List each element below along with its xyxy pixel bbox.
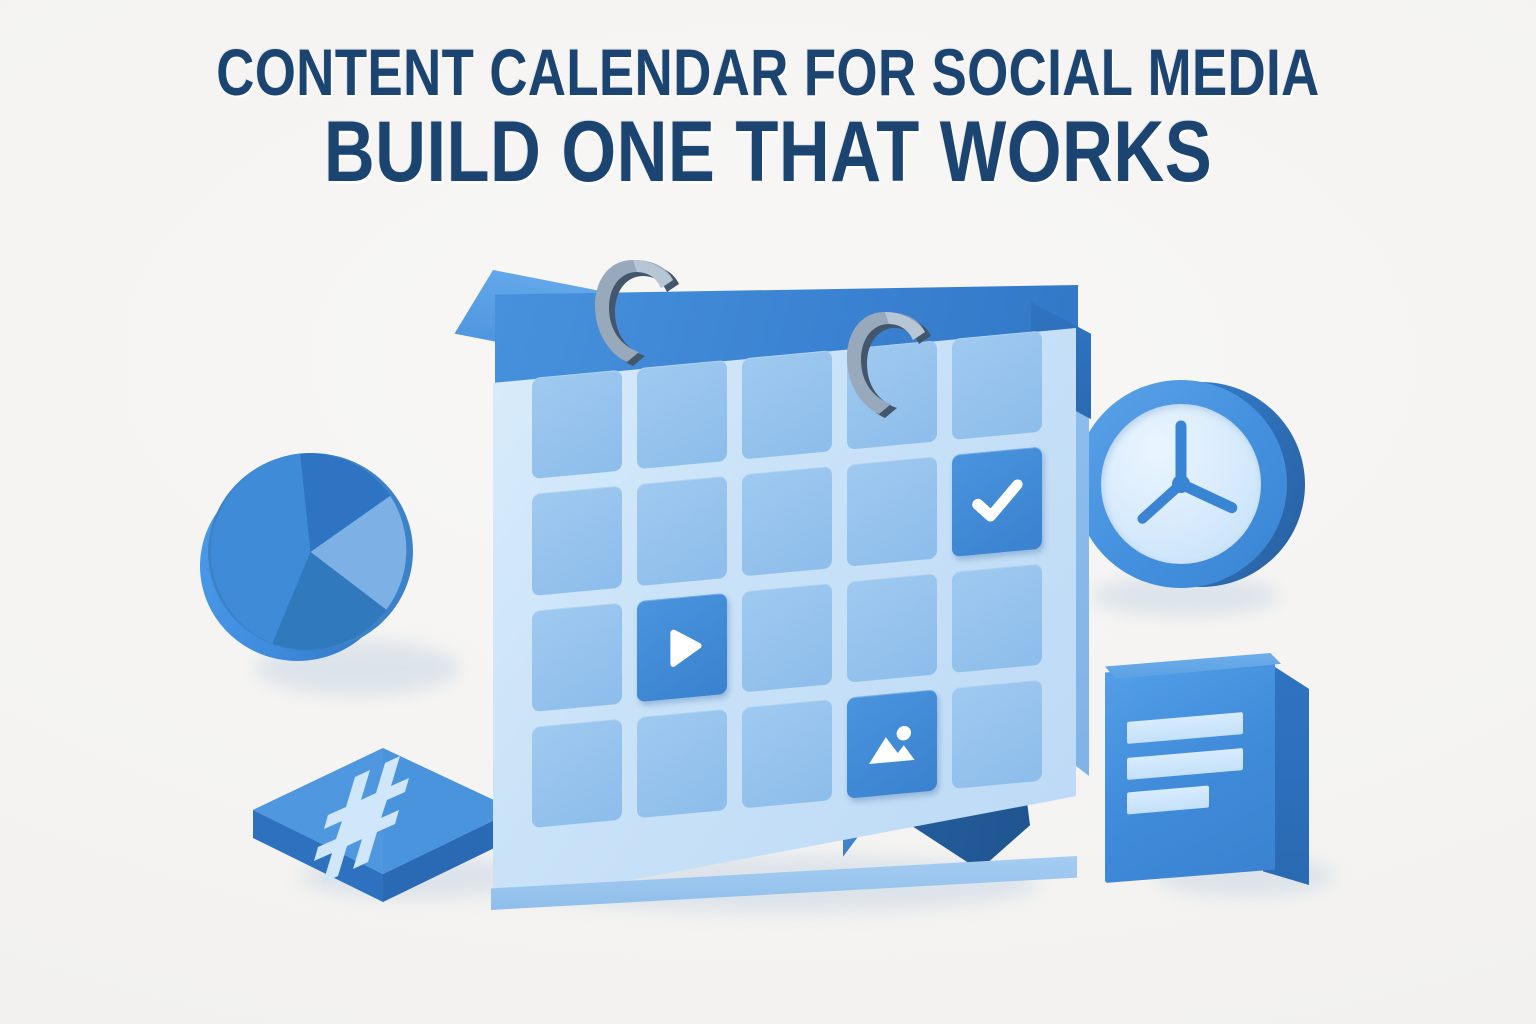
- calendar-cell: [532, 602, 622, 712]
- calendar-cell: [952, 331, 1042, 441]
- calendar-cell: [532, 718, 622, 828]
- calendar-ring-2: [845, 310, 937, 428]
- calendar-cell: [532, 486, 622, 596]
- calendar-cell: [637, 360, 727, 470]
- image-icon: [847, 689, 937, 799]
- calendar-cell: [847, 573, 937, 683]
- desk-calendar: [455, 250, 1095, 940]
- clock: [1063, 372, 1308, 612]
- headline-block: CONTENT CALENDAR FOR SOCIAL MEDIA BUILD …: [0, 40, 1536, 195]
- calendar-cell: [742, 583, 832, 693]
- pie-chart-segments: [198, 443, 423, 661]
- headline-line-1: CONTENT CALENDAR FOR SOCIAL MEDIA: [154, 40, 1383, 105]
- document-card: [1095, 645, 1325, 910]
- clock-hands: [1101, 404, 1261, 564]
- calendar-cell: [847, 457, 937, 567]
- clock-center-pin: [1172, 475, 1190, 493]
- calendar-cell: [637, 709, 727, 819]
- calendar-cell: [742, 466, 832, 576]
- pie-chart: [200, 445, 430, 675]
- headline-line-2: BUILD ONE THAT WORKS: [138, 109, 1398, 195]
- calendar-grid: [532, 331, 1042, 828]
- calendar-cell: [532, 370, 622, 480]
- calendar-cell: [742, 699, 832, 809]
- calendar-cell-image-icon: [847, 689, 937, 799]
- calendar-cell-play-icon: [637, 592, 727, 702]
- calendar-cell: [952, 563, 1042, 673]
- calendar-cell-check-icon: [952, 447, 1042, 557]
- illustration-stage: CONTENT CALENDAR FOR SOCIAL MEDIA BUILD …: [0, 0, 1536, 1024]
- play-icon: [637, 592, 727, 702]
- pie-chart-top: [198, 443, 423, 661]
- calendar-cell: [637, 476, 727, 586]
- calendar-ring-1: [593, 258, 685, 376]
- calendar-cell: [952, 679, 1042, 789]
- calendar-cell: [742, 350, 832, 460]
- check-icon: [952, 447, 1042, 557]
